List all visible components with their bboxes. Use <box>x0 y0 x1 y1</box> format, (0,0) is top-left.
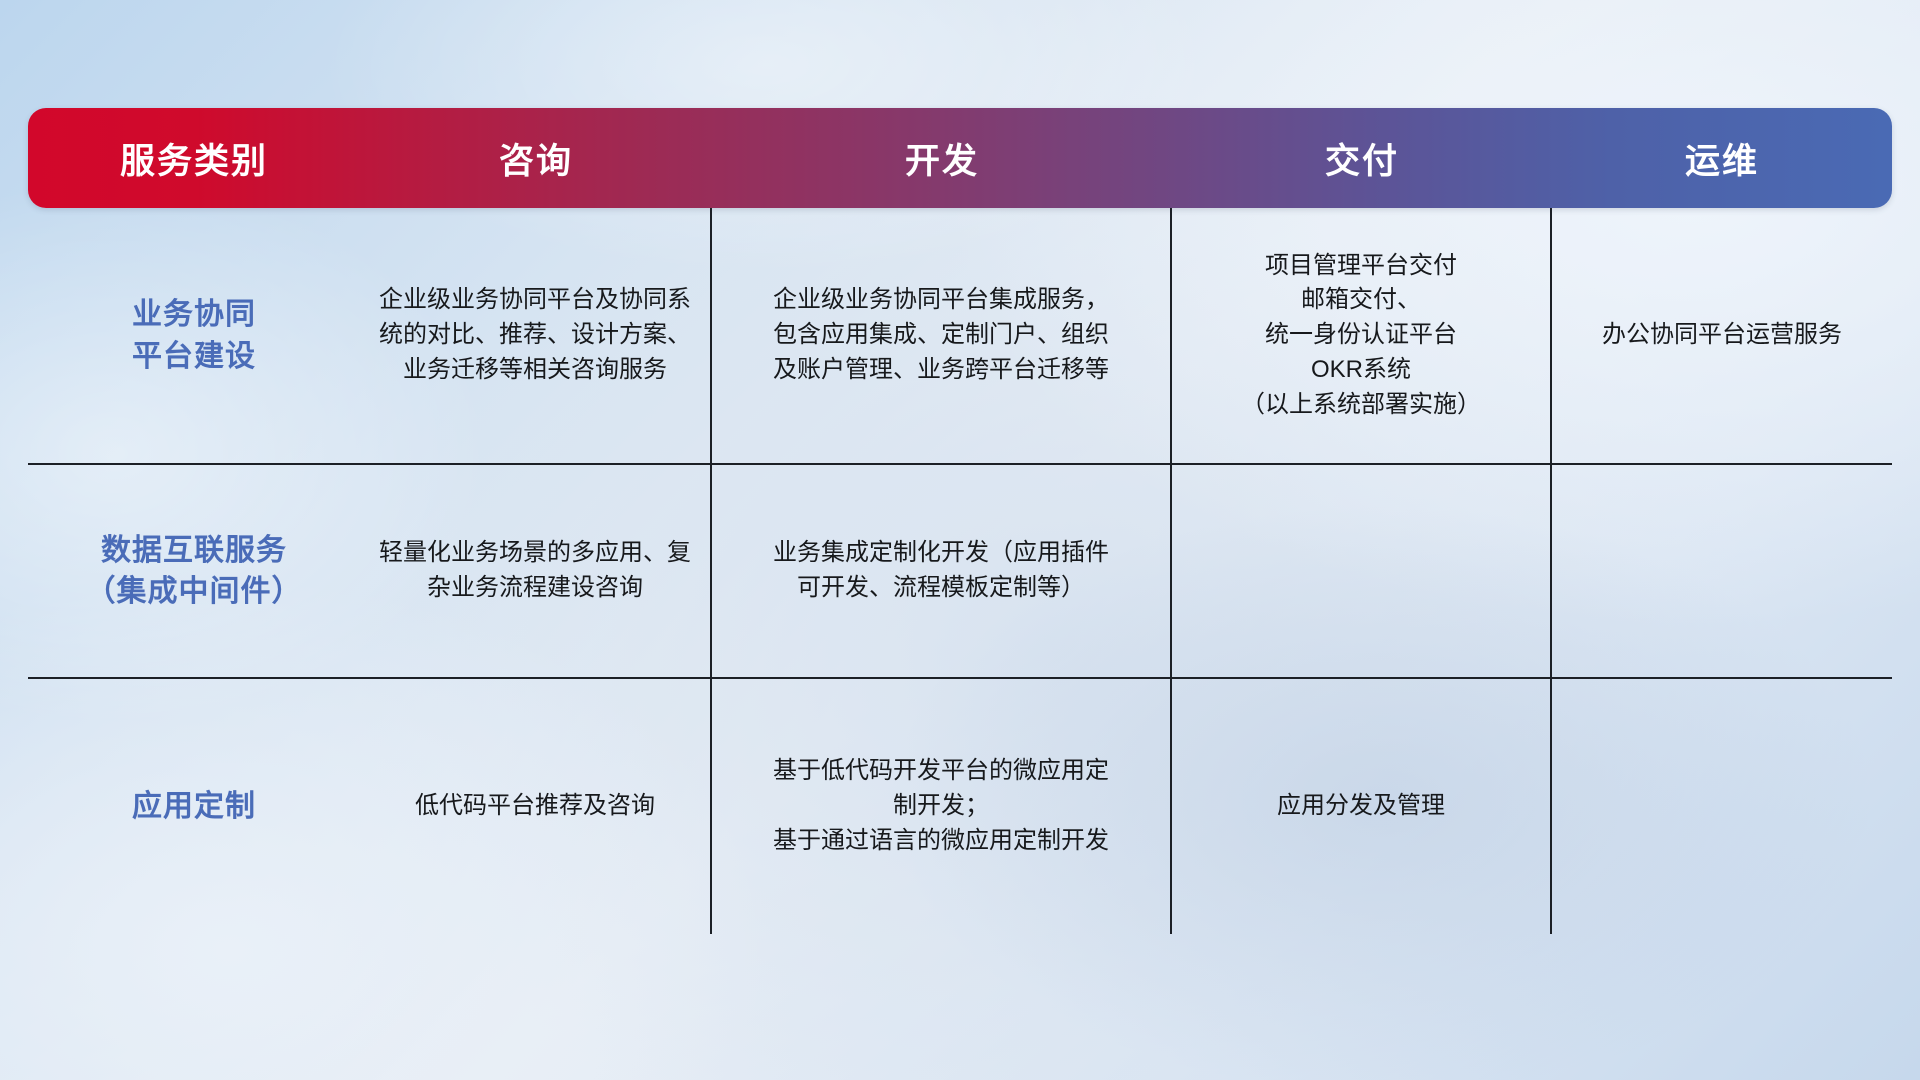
cell-delivery <box>1172 465 1552 677</box>
cell-consulting: 企业级业务协同平台及协同系 统的对比、推荐、设计方案、 业务迁移等相关咨询服务 <box>360 208 712 463</box>
row-category-label: 业务协同 平台建设 <box>28 208 360 463</box>
cell-consulting: 低代码平台推荐及咨询 <box>360 679 712 934</box>
table-row: 业务协同 平台建设 企业级业务协同平台及协同系 统的对比、推荐、设计方案、 业务… <box>28 208 1892 463</box>
cell-delivery: 应用分发及管理 <box>1172 679 1552 934</box>
table-row: 数据互联服务 （集成中间件） 轻量化业务场景的多应用、复 杂业务流程建设咨询 业… <box>28 463 1892 677</box>
table-header-row: 服务类别 咨询 开发 交付 运维 <box>28 108 1892 208</box>
table-header-delivery: 交付 <box>1172 133 1552 184</box>
table-body: 业务协同 平台建设 企业级业务协同平台及协同系 统的对比、推荐、设计方案、 业务… <box>28 208 1892 934</box>
cell-operations <box>1552 679 1892 934</box>
cell-development: 企业级业务协同平台集成服务， 包含应用集成、定制门户、组织 及账户管理、业务跨平… <box>712 208 1172 463</box>
cell-development: 业务集成定制化开发（应用插件 可开发、流程模板定制等） <box>712 465 1172 677</box>
cell-operations: 办公协同平台运营服务 <box>1552 208 1892 463</box>
row-category-label: 应用定制 <box>28 679 360 934</box>
service-category-table: 服务类别 咨询 开发 交付 运维 业务协同 平台建设 企业级业务协同平台及协同系… <box>28 108 1892 952</box>
table-header-operations: 运维 <box>1552 133 1892 184</box>
cell-delivery: 项目管理平台交付 邮箱交付、 统一身份认证平台 OKR系统 （以上系统部署实施） <box>1172 208 1552 463</box>
table-header-consulting: 咨询 <box>360 133 712 184</box>
cell-operations <box>1552 465 1892 677</box>
row-category-label: 数据互联服务 （集成中间件） <box>28 465 360 677</box>
table-row: 应用定制 低代码平台推荐及咨询 基于低代码开发平台的微应用定 制开发； 基于通过… <box>28 677 1892 934</box>
cell-consulting: 轻量化业务场景的多应用、复 杂业务流程建设咨询 <box>360 465 712 677</box>
cell-development: 基于低代码开发平台的微应用定 制开发； 基于通过语言的微应用定制开发 <box>712 679 1172 934</box>
table-header-development: 开发 <box>712 133 1172 184</box>
table-header-service-category: 服务类别 <box>28 133 360 184</box>
